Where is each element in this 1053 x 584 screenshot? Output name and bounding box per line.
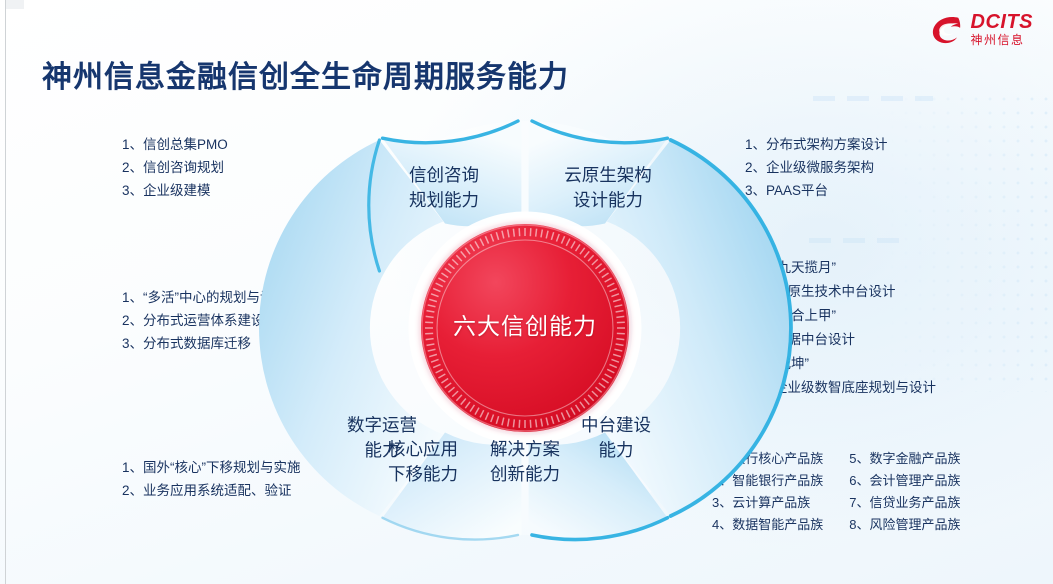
corner-notch [6,0,24,9]
note-bottom-left: 1、国外“核心”下移规划与实施 2、业务应用系统适配、验证 [122,456,301,502]
left-rule-divider [5,0,6,584]
note-line: 2、企业级微服务架构 [745,156,888,179]
six-capability-hub-diagram: 信创咨询 规划能力 云原生架构 设计能力 中台建设 能力 解决方案 创新能力 核… [318,121,732,535]
brand-logo: DCITS 神州信息 [930,12,1034,46]
dcits-swirl-icon [930,14,964,44]
background-dash-line-upper [813,96,933,101]
note-bottom-right: 1、银行核心产品族 2、智能银行产品族 3、云计算产品族 4、数据智能产品族 5… [712,448,960,536]
note-line: 1、信创总集PMO [122,133,228,156]
slide-canvas: DCITS 神州信息 神州信息金融信创全生命周期服务能力 1、信创总集PMO 2… [0,0,1053,584]
note-line: 8、风险管理产品族 [849,514,960,536]
background-dash-line-lower [809,238,901,243]
note-line: 3、企业级建模 [122,179,228,202]
note-line: 3、PAAS平台 [745,179,888,202]
logo-wordmark-cn: 神州信息 [971,34,1034,46]
logo-wordmark-en: DCITS [971,12,1034,32]
hub-svg [318,121,732,535]
note-line: 2、信创咨询规划 [122,156,228,179]
note-top-left: 1、信创总集PMO 2、信创咨询规划 3、企业级建模 [122,133,228,202]
note-line: 2、业务应用系统适配、验证 [122,479,301,502]
note-line: 5、数字金融产品族 [849,448,960,470]
note-line: 1、分布式架构方案设计 [745,133,888,156]
page-title: 神州信息金融信创全生命周期服务能力 [42,52,569,96]
note-column-2: 5、数字金融产品族 6、会计管理产品族 7、信贷业务产品族 8、风险管理产品族 [849,448,960,536]
note-line: 7、信贷业务产品族 [849,492,960,514]
note-line: 6、会计管理产品族 [849,470,960,492]
note-top-right: 1、分布式架构方案设计 2、企业级微服务架构 3、PAAS平台 [745,133,888,202]
note-line: 1、国外“核心”下移规划与实施 [122,456,301,479]
